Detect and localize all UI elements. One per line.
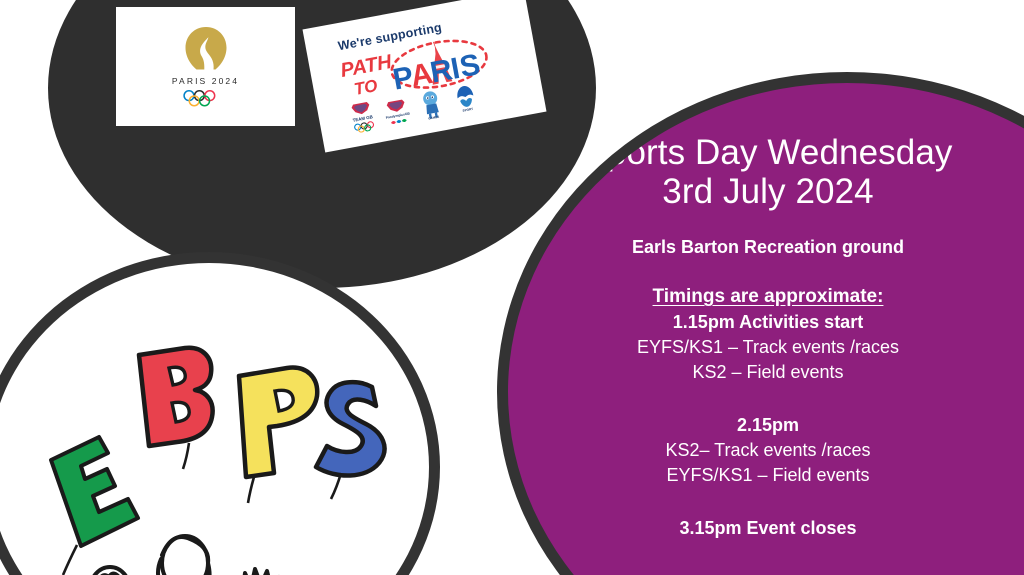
child-figure xyxy=(221,569,313,575)
svg-text:ParalympicsGB: ParalympicsGB xyxy=(385,111,410,119)
svg-text:GAMES: GAMES xyxy=(428,115,440,121)
child-figure xyxy=(133,536,241,575)
schedule-spacer xyxy=(508,381,1024,409)
event-details-text: Sports Day Wednesday 3rd July 2024 Earls… xyxy=(508,133,1024,537)
svg-text:TO: TO xyxy=(353,76,379,99)
sport-england-logo-icon: SPORT xyxy=(450,81,481,115)
schedule-item-3: KS2 – Field events xyxy=(508,363,1024,381)
paralympics-gb-logo-icon: ParalympicsGB xyxy=(381,94,412,128)
svg-text:SPORT: SPORT xyxy=(462,107,473,113)
schedule-spacer xyxy=(508,484,1024,512)
team-gb-logo-icon: TEAM GB xyxy=(347,100,378,134)
headline-line-2: 3rd July 2024 xyxy=(508,172,1024,211)
timings-heading: Timings are approximate: xyxy=(508,287,1024,306)
schedule-item-2: EYFS/KS1 – Track events /races xyxy=(508,338,1024,356)
paris-2024-label: PARIS 2024 xyxy=(172,76,239,86)
schedule-item-1: 1.15pm Activities start xyxy=(508,313,1024,331)
venue-text: Earls Barton Recreation ground xyxy=(508,238,1024,256)
olympic-rings-icon xyxy=(180,90,232,112)
letter-p xyxy=(239,368,317,477)
ebps-school-logo-circle xyxy=(0,252,440,575)
schedule-item-5: KS2– Track events /races xyxy=(508,441,1024,459)
letter-b xyxy=(139,348,213,446)
child-figure xyxy=(64,567,157,575)
sports-day-poster: PARIS 2024 We're supporting xyxy=(0,0,1024,575)
letter-s xyxy=(316,382,385,475)
paris-2024-emblem-icon xyxy=(184,26,228,71)
headline-line-1: Sports Day Wednesday xyxy=(508,133,1024,172)
ebps-children-artwork xyxy=(0,263,429,575)
schedule-item-7: 3.15pm Event closes xyxy=(508,519,1024,537)
school-games-mascot-logo-icon: GAMES xyxy=(416,87,447,121)
paris-2024-card: PARIS 2024 xyxy=(116,7,295,126)
schedule-item-6: EYFS/KS1 – Field events xyxy=(508,466,1024,484)
event-details-circle: Sports Day Wednesday 3rd July 2024 Earls… xyxy=(497,72,1024,575)
letter-e xyxy=(51,437,138,546)
schedule-item-4: 2.15pm xyxy=(508,416,1024,434)
